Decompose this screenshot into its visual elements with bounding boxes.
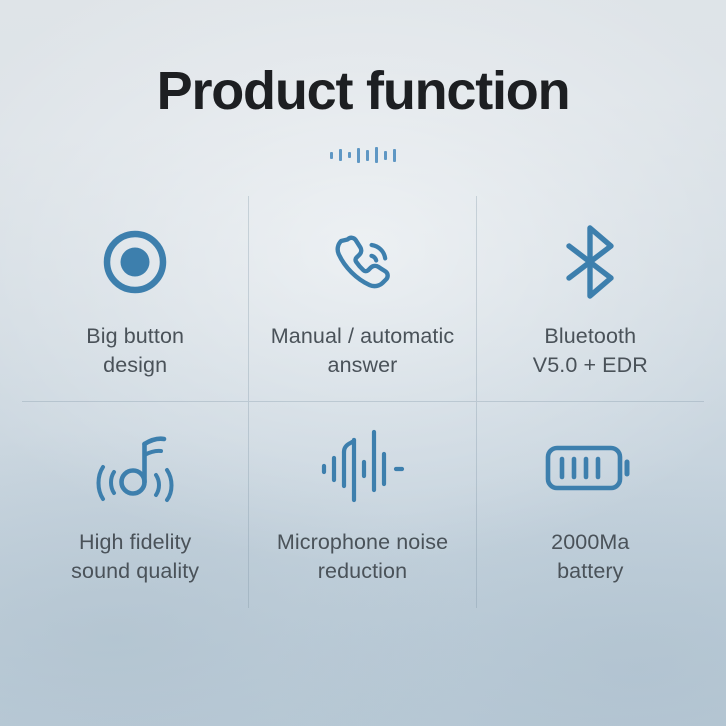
feature-label: Microphone noise reduction	[277, 528, 448, 585]
equalizer-bar	[339, 149, 342, 161]
music-note-sound-icon	[87, 422, 183, 514]
feature-label: Manual / automatic answer	[271, 322, 454, 379]
feature-label: Bluetooth V5.0 + EDR	[533, 322, 648, 379]
feature-cell-bluetooth: Bluetooth V5.0 + EDR	[477, 196, 704, 402]
product-function-panel: Product function Big button design	[0, 0, 726, 726]
equalizer-bar	[330, 152, 333, 159]
page-title: Product function	[0, 60, 726, 122]
equalizer-bar	[366, 150, 369, 161]
feature-cell-battery: 2000Ma battery	[477, 402, 704, 608]
equalizer-bar	[393, 149, 396, 162]
feature-cell-big-button: Big button design	[22, 196, 249, 402]
audio-waveform-icon	[319, 422, 405, 514]
battery-icon	[544, 422, 636, 514]
feature-label: High fidelity sound quality	[71, 528, 199, 585]
big-button-icon	[99, 216, 171, 308]
equalizer-decoration	[0, 143, 726, 167]
feature-label: Big button design	[86, 322, 184, 379]
equalizer-bar	[357, 148, 360, 163]
bluetooth-icon	[554, 216, 626, 308]
feature-grid: Big button design Manual / automatic ans…	[22, 196, 704, 608]
phone-call-icon	[324, 216, 400, 308]
equalizer-bar	[348, 152, 351, 158]
feature-cell-sound-quality: High fidelity sound quality	[22, 402, 249, 608]
equalizer-bar	[384, 151, 387, 160]
feature-cell-answer-mode: Manual / automatic answer	[249, 196, 476, 402]
equalizer-bar	[375, 147, 378, 163]
feature-cell-noise-reduction: Microphone noise reduction	[249, 402, 476, 608]
feature-label: 2000Ma battery	[551, 528, 629, 585]
